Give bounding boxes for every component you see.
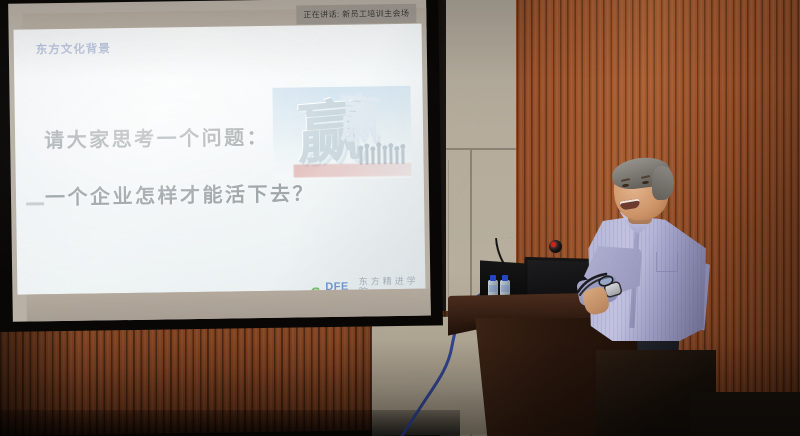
floor-shadow (0, 410, 460, 436)
presentation-slide: 东方文化背景 请大家思考一个问题： 一个企业怎样才能活下去？ 赢 赢 (14, 24, 426, 295)
now-speaking-banner: 正在讲话: 新员工培训主会场 (296, 4, 416, 25)
speaker-shirt-pocket (656, 252, 678, 272)
projection-screen-frame: 东方文化背景 请大家思考一个问题： 一个企业怎样才能活下去？ 赢 赢 (0, 0, 443, 332)
now-speaking-text: 正在讲话: 新员工培训主会场 (303, 8, 409, 21)
projection-screen-surface: 东方文化背景 请大家思考一个问题： 一个企业怎样才能活下去？ 赢 赢 (8, 0, 431, 322)
slide-body-line-2: 一个企业怎样才能活下去？ (45, 177, 315, 210)
dark-foreground-object (690, 392, 800, 436)
microphone-led-icon (551, 242, 556, 247)
slide-title: 东方文化背景 (36, 40, 111, 57)
screenshot-canvas: 东方文化背景 请大家思考一个问题： 一个企业怎样才能活下去？ 赢 赢 (0, 0, 800, 436)
speaker-hair-side (652, 166, 674, 200)
slide-image-watermark (294, 163, 412, 178)
slide-body-line-1: 请大家思考一个问题： (44, 121, 269, 153)
screen-bottom-mat (26, 288, 430, 321)
slide-image: 赢 赢 (272, 86, 411, 180)
slide-margin-mark (26, 202, 44, 205)
